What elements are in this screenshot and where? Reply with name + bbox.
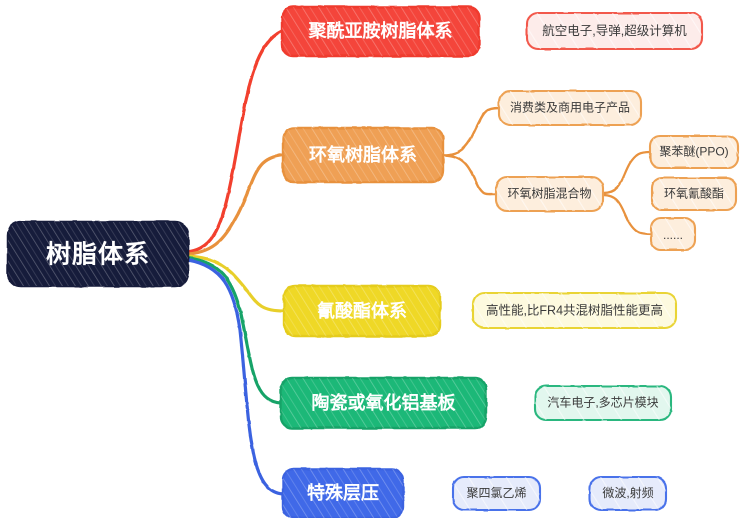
leaf-node-epoxy-cyanate-ester[interactable]: 环氧氰酸酯: [652, 178, 736, 210]
mindmap-canvas: 树脂体系 聚酰亚胺树脂体系 航空电子,导弹,超级计算机 环氧树脂体系 消费类及商…: [0, 0, 744, 518]
leaf-epoxy-blend-label: 环氧树脂混合物: [507, 186, 591, 201]
leaf-node-microwave[interactable]: 微波,射频: [590, 477, 666, 510]
branch-special-label: 特殊层压: [307, 482, 379, 503]
branch-node-special[interactable]: 特殊层压: [283, 469, 403, 518]
leaf-node-aerospace[interactable]: 航空电子,导弹,超级计算机: [527, 13, 702, 49]
leaf-consumer-label: 消费类及商用电子产品: [510, 100, 630, 115]
connector-epoxy-to-blend: [443, 155, 496, 194]
leaf-automotive-label: 汽车电子,多芯片模块: [547, 395, 658, 410]
leaf-high-performance-label: 高性能,比FR4共混树脂性能更高: [486, 302, 663, 317]
branch-ceramic-label: 陶瓷或氧化铝基板: [312, 392, 457, 413]
root-node[interactable]: 树脂体系: [8, 222, 188, 286]
leaf-node-high-performance[interactable]: 高性能,比FR4共混树脂性能更高: [473, 293, 676, 328]
branch-node-ceramic[interactable]: 陶瓷或氧化铝基板: [281, 378, 486, 428]
branch-epoxy-label: 环氧树脂体系: [309, 144, 417, 165]
connector-blend-to-ellipsis: [603, 195, 651, 234]
connector-epoxy-to-consumer: [443, 108, 499, 155]
branch-node-epoxy[interactable]: 环氧树脂体系: [283, 128, 443, 182]
branch-cyanate-label: 氰酸酯体系: [317, 300, 407, 321]
root-node-label: 树脂体系: [46, 241, 150, 269]
connector-blend-to-ppo: [603, 152, 650, 193]
leaf-microwave-label: 微波,射频: [602, 485, 653, 500]
branch-node-polyimide[interactable]: 聚酰亚胺树脂体系: [282, 7, 479, 56]
leaf-node-epoxy-blend[interactable]: 环氧树脂混合物: [496, 177, 603, 211]
leaf-ellipsis-label: ......: [663, 228, 683, 242]
leaf-node-automotive[interactable]: 汽车电子,多芯片模块: [535, 386, 671, 420]
connector-root-to-ceramic: [188, 258, 281, 403]
connector-group-root: [188, 31, 284, 494]
leaf-ppo-label: 聚苯醚(PPO): [659, 145, 728, 159]
leaf-node-ppo[interactable]: 聚苯醚(PPO): [650, 136, 738, 168]
leaf-node-ptfe[interactable]: 聚四氯乙烯: [453, 477, 540, 510]
leaf-epoxy-cyanate-label: 环氧氰酸酯: [664, 186, 724, 201]
leaf-node-ellipsis[interactable]: ......: [651, 218, 695, 250]
leaf-ptfe-label: 聚四氯乙烯: [466, 486, 526, 500]
branch-polyimide-label: 聚酰亚胺树脂体系: [308, 20, 453, 41]
connector-root-to-epoxy: [188, 155, 283, 254]
leaf-aerospace-label: 航空电子,导弹,超级计算机: [542, 23, 687, 38]
branch-node-cyanate[interactable]: 氰酸酯体系: [284, 286, 440, 336]
leaf-node-consumer-electronics[interactable]: 消费类及商用电子产品: [499, 91, 641, 125]
